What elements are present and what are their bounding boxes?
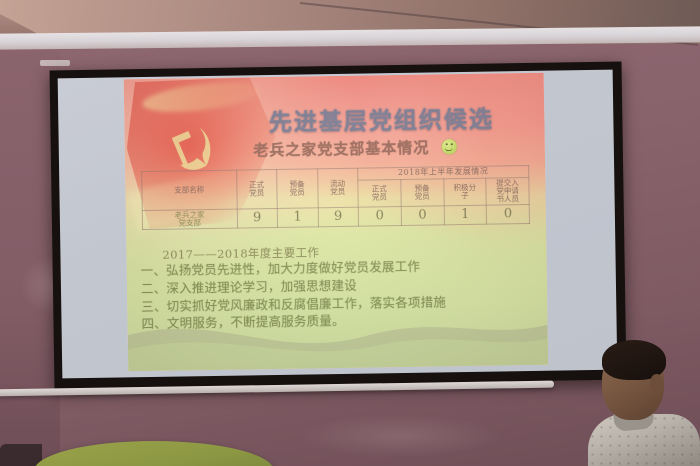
table-header-probationary-member: 预备党员 <box>277 169 318 209</box>
smiley-face-icon <box>441 139 456 154</box>
foreground-chair <box>0 444 42 466</box>
wall-vent <box>40 60 70 66</box>
table-cell-activist: 1 <box>444 205 487 225</box>
party-branch-stats-table: 支部名称 正式党员 预备党员 流动党员 2018年上半年发展情况 正式党员 预备… <box>141 165 530 230</box>
projection-screen: 先进基层党组织候选 老兵之家党支部基本情况 支部名称 正式党员 预备党员 流动党… <box>50 62 627 389</box>
photo-scene: 先进基层党组织候选 老兵之家党支部基本情况 支部名称 正式党员 预备党员 流动党… <box>0 0 700 466</box>
table-cell-mobile-member: 9 <box>318 207 359 227</box>
table-header-applicant: 提交入党申请书人员 <box>486 177 529 205</box>
person-at-right <box>588 336 700 466</box>
table-header-new-full-member: 正式党员 <box>358 179 401 207</box>
table-header-new-probationary-member: 预备党员 <box>401 178 444 206</box>
table-header-activist: 积极分子 <box>443 178 486 206</box>
projected-slide: 先进基层党组织候选 老兵之家党支部基本情况 支部名称 正式党员 预备党员 流动党… <box>124 73 549 372</box>
person-ear <box>650 374 663 392</box>
table-cell-applicant: 0 <box>486 204 529 224</box>
slide-title: 先进基层党组织候选 <box>226 99 536 138</box>
table-cell-full-member: 9 <box>237 208 278 228</box>
table-header-mobile-member: 流动党员 <box>317 168 358 208</box>
slide-subtitle: 老兵之家党支部基本情况 <box>253 137 429 161</box>
work-items-list: 一、弘扬党员先进性，加大力度做好党员发展工作 二、深入推进理论学习，加强思想建设… <box>141 256 542 333</box>
screen-surface: 先进基层党组织候选 老兵之家党支部基本情况 支部名称 正式党员 预备党员 流动党… <box>58 70 618 379</box>
table-cell-new-full-member: 0 <box>358 206 401 226</box>
table-cell-new-probationary-member: 0 <box>401 206 444 226</box>
table-header-branch-name: 支部名称 <box>142 170 237 210</box>
table-cell-probationary-member: 1 <box>277 208 318 228</box>
table-cell-branch-name: 老兵之家党支部 <box>142 209 237 230</box>
table-header-full-member: 正式党员 <box>236 169 277 209</box>
